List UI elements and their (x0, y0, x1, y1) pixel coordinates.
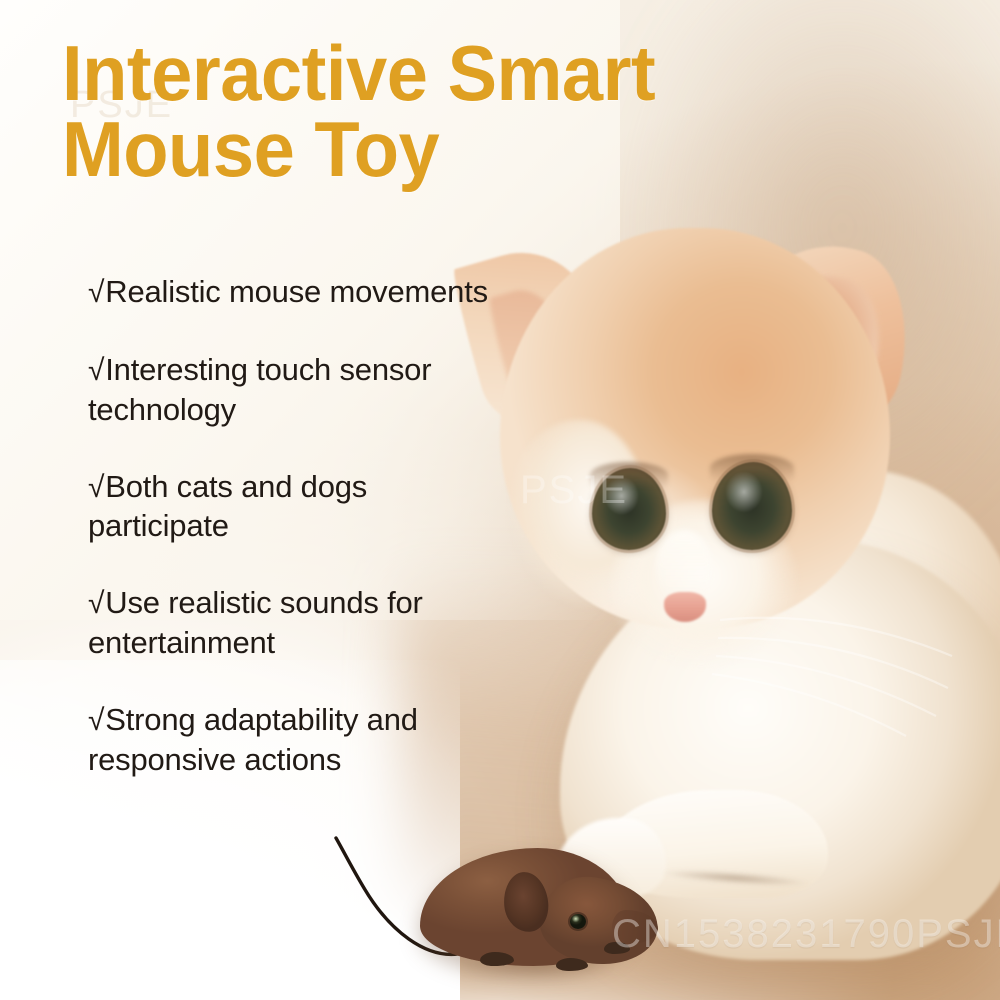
cat-eyelid-left (590, 462, 668, 488)
feature-item: √Both cats and dogs participate (88, 467, 488, 546)
checkmark-icon: √ (88, 471, 104, 504)
toy-mouse-foot (480, 952, 514, 966)
feature-item: √Use realistic sounds for entertainment (88, 583, 488, 662)
feature-item: √Realistic mouse movements (88, 272, 488, 312)
feature-label: Strong adaptability and responsive actio… (88, 702, 418, 777)
toy-mouse-foot (604, 942, 630, 954)
checkmark-icon: √ (88, 587, 104, 620)
feature-label: Use realistic sounds for entertainment (88, 585, 423, 660)
feature-list: √Realistic mouse movements √Interesting … (88, 272, 488, 817)
checkmark-icon: √ (88, 354, 104, 387)
feature-item: √Interesting touch sensor technology (88, 350, 488, 429)
feature-item: √Strong adaptability and responsive acti… (88, 700, 488, 779)
feature-label: Both cats and dogs participate (88, 469, 367, 544)
feature-label: Interesting touch sensor technology (88, 352, 431, 427)
page-title: Interactive Smart Mouse Toy (62, 36, 841, 187)
product-poster: PSJE PSJE CN1538231790PSJE Interactive S… (0, 0, 1000, 1000)
cat-eyelid-right (710, 454, 794, 482)
checkmark-icon: √ (88, 704, 104, 737)
cat-whiskers-icon (600, 560, 960, 760)
checkmark-icon: √ (88, 276, 104, 309)
feature-label: Realistic mouse movements (105, 274, 488, 309)
toy-mouse-eye (570, 914, 586, 929)
toy-mouse-foot (556, 958, 588, 971)
